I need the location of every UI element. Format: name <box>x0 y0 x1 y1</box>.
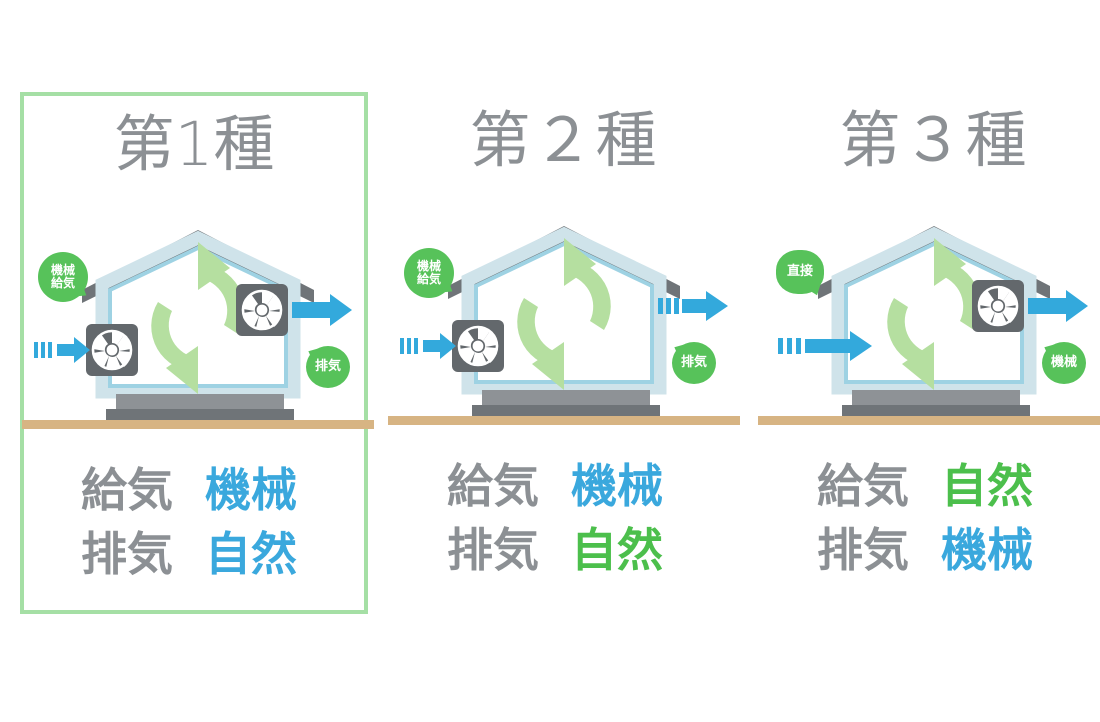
panel-type-2[interactable]: 第２種 <box>390 92 738 614</box>
legend-value-exhaust: 自然 <box>205 531 315 577</box>
legend-key-supply: 給気 <box>817 463 941 509</box>
legend-row-exhaust: 排気 機械 <box>760 518 1100 582</box>
supply-label-bubble: 機械 給気 <box>404 248 454 298</box>
legend-row-supply: 給気 自然 <box>760 454 1100 518</box>
legend-value-supply: 機械 <box>205 467 315 513</box>
supply-air-arrow <box>400 329 458 363</box>
supply-air-arrow <box>778 329 874 363</box>
foundation-lower <box>106 409 294 420</box>
supply-label-bubble: 機械 給気 <box>38 252 88 302</box>
foundation-upper <box>116 394 284 409</box>
legend-key-exhaust: 排気 <box>81 531 205 577</box>
legend: 給気 機械 排気 自然 <box>390 454 738 582</box>
ground-line <box>22 420 374 429</box>
legend-value-exhaust: 機械 <box>941 527 1051 573</box>
foundation-upper <box>852 390 1020 405</box>
house-diagram: 機械 給気 排気 <box>24 216 372 436</box>
legend-key-exhaust: 排気 <box>447 527 571 573</box>
legend-key-exhaust: 排気 <box>817 527 941 573</box>
panel-title: 第３種 <box>760 110 1100 171</box>
exhaust-label-bubble: 機械 <box>1042 342 1086 384</box>
legend-value-supply: 自然 <box>941 463 1051 509</box>
house-diagram: 機械 給気 排気 <box>390 212 738 432</box>
panel-type-3[interactable]: 第３種 <box>760 92 1100 614</box>
house-diagram: 直接 機械 <box>760 212 1100 432</box>
exhaust-air-arrow <box>292 293 354 327</box>
exhaust-air-arrow <box>1028 289 1090 323</box>
legend-row-supply: 給気 機械 <box>390 454 738 518</box>
legend-key-supply: 給気 <box>81 467 205 513</box>
exhaust-label-text: 機械 <box>1051 356 1077 370</box>
panel-title: 第２種 <box>390 110 738 171</box>
exhaust-air-arrow <box>658 289 730 323</box>
exhaust-label-text: 排気 <box>315 360 341 374</box>
foundation-upper <box>482 390 650 405</box>
supply-fan-unit <box>452 320 504 372</box>
exhaust-label-bubble: 排気 <box>306 346 350 388</box>
legend-value-exhaust: 自然 <box>571 527 681 573</box>
exhaust-label-text: 排気 <box>681 356 707 370</box>
supply-air-arrow <box>34 333 92 367</box>
ground-line <box>388 416 740 425</box>
house-illustration <box>444 220 684 400</box>
exhaust-label-bubble: 排気 <box>672 342 716 384</box>
panel-title: 第1種 <box>24 114 364 175</box>
legend-row-exhaust: 排気 自然 <box>390 518 738 582</box>
ventilation-types-diagram: 第1種 <box>0 0 1100 722</box>
supply-label-text: 機械 給気 <box>51 264 75 289</box>
ground-line <box>758 416 1100 425</box>
supply-label-text: 直接 <box>787 265 813 279</box>
supply-label-bubble: 直接 <box>776 250 824 294</box>
legend: 給気 自然 排気 機械 <box>760 454 1100 582</box>
exhaust-fan-unit <box>972 280 1024 332</box>
supply-fan-unit <box>86 324 138 376</box>
foundation-lower <box>472 405 660 416</box>
supply-label-text: 機械 給気 <box>417 260 441 285</box>
legend-key-supply: 給気 <box>447 463 571 509</box>
legend-row-exhaust: 排気 自然 <box>24 522 372 586</box>
legend-value-supply: 機械 <box>571 463 681 509</box>
panel-type-1[interactable]: 第1種 <box>20 92 368 614</box>
legend: 給気 機械 排気 自然 <box>24 458 372 586</box>
legend-row-supply: 給気 機械 <box>24 458 372 522</box>
foundation-lower <box>842 405 1030 416</box>
exhaust-fan-unit <box>236 284 288 336</box>
